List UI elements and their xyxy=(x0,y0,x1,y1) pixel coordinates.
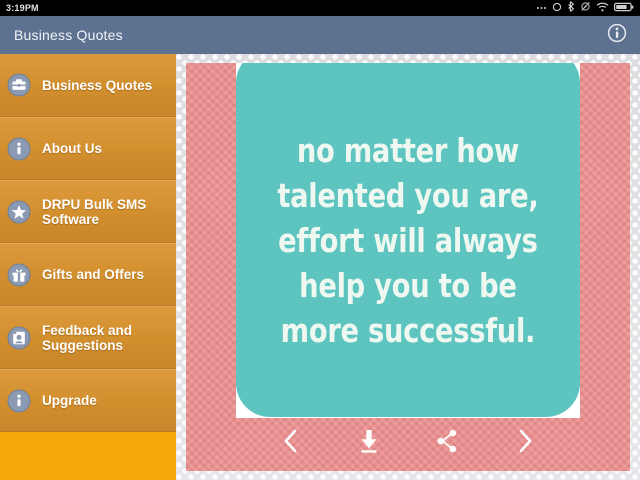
download-icon xyxy=(356,427,382,460)
info-icon xyxy=(6,136,32,162)
wifi-icon xyxy=(596,0,609,17)
sidebar-item-label: Upgrade xyxy=(42,393,97,408)
app-screen: 3:19PM Business Quotes xyxy=(0,0,640,480)
page-title: Business Quotes xyxy=(14,27,123,43)
status-icon-group xyxy=(536,0,634,17)
sidebar-item-gifts-and-offers[interactable]: Gifts and Offers xyxy=(0,243,176,306)
sidebar-item-upgrade[interactable]: Upgrade xyxy=(0,369,176,432)
previous-quote-button[interactable] xyxy=(274,426,308,460)
sidebar-item-label: Feedback and Suggestions xyxy=(42,323,168,353)
more-dots-icon xyxy=(536,0,547,17)
status-bar: 3:19PM xyxy=(0,0,640,16)
rotation-lock-icon xyxy=(580,0,591,17)
info-button[interactable] xyxy=(606,24,628,46)
share-quote-button[interactable] xyxy=(430,426,464,460)
info-icon xyxy=(6,388,32,414)
share-icon xyxy=(434,427,460,460)
battery-icon xyxy=(614,0,634,17)
gift-icon xyxy=(6,262,32,288)
info-icon xyxy=(607,23,627,48)
quote-text: no matter how talented you are, effort w… xyxy=(272,128,544,353)
feedback-icon xyxy=(6,325,32,351)
app-bar: Business Quotes xyxy=(0,16,640,54)
next-quote-button[interactable] xyxy=(508,426,542,460)
chevron-right-icon xyxy=(513,427,537,460)
status-clock: 3:19PM xyxy=(6,3,39,13)
navigation-drawer: Business Quotes About Us DRPU Bulk SMS S… xyxy=(0,54,176,480)
circle-icon xyxy=(552,0,562,17)
download-quote-button[interactable] xyxy=(352,426,386,460)
sidebar-item-label: About Us xyxy=(42,141,102,156)
quote-controls xyxy=(186,419,630,467)
sidebar-item-label: DRPU Bulk SMS Software xyxy=(42,197,168,227)
content-area: no matter how talented you are, effort w… xyxy=(176,54,640,480)
quote-card: no matter how talented you are, effort w… xyxy=(186,63,630,471)
quote-panel: no matter how talented you are, effort w… xyxy=(236,63,580,417)
sidebar-item-feedback-and-suggestions[interactable]: Feedback and Suggestions xyxy=(0,306,176,369)
briefcase-icon xyxy=(6,72,32,98)
sidebar-item-label: Business Quotes xyxy=(42,78,152,93)
chevron-left-icon xyxy=(279,427,303,460)
sidebar-item-business-quotes[interactable]: Business Quotes xyxy=(0,54,176,117)
sidebar-item-drpu-bulk-sms-software[interactable]: DRPU Bulk SMS Software xyxy=(0,180,176,243)
sidebar-item-about-us[interactable]: About Us xyxy=(0,117,176,180)
star-icon xyxy=(6,199,32,225)
sidebar-item-label: Gifts and Offers xyxy=(42,267,144,282)
bluetooth-icon xyxy=(567,0,575,17)
